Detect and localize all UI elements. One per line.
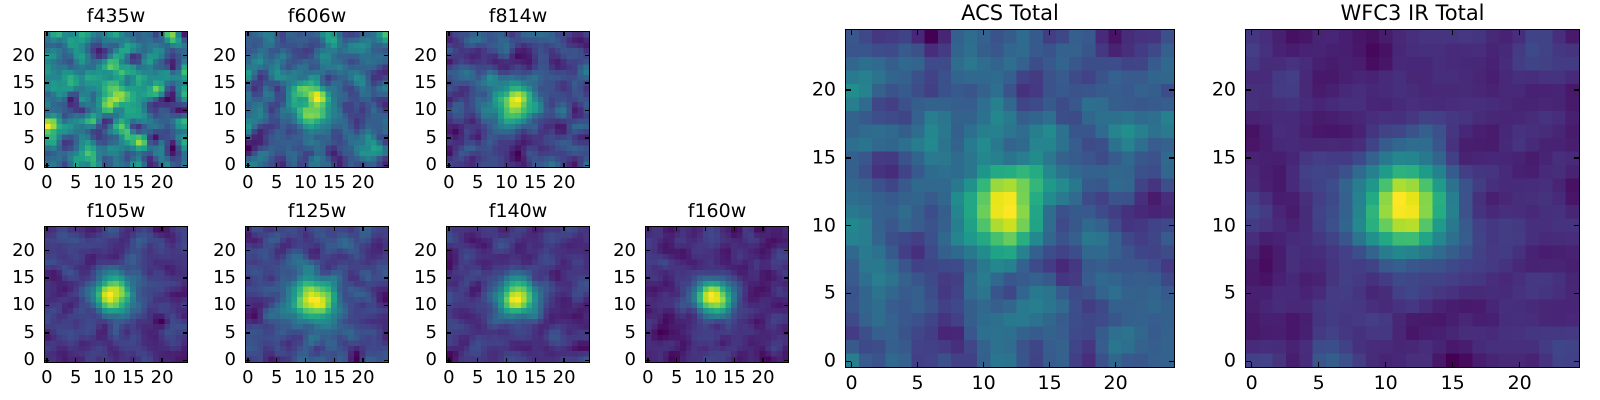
image-axes-f435w	[44, 31, 188, 168]
y-ticklabel-f435w-20: 20	[12, 47, 35, 65]
x-tick-f125w-5	[276, 358, 277, 363]
x-tick-f814w-10	[506, 31, 507, 36]
x-tick-f140w-20	[563, 358, 564, 363]
x-ticklabel-acs_total-15: 15	[1038, 374, 1062, 393]
y-ticklabel-acs_total-15: 15	[812, 148, 836, 167]
y-ticklabel-f140w-0: 0	[426, 351, 437, 369]
x-ticklabel-f105w-0: 0	[41, 369, 52, 387]
y-tick-f606w-0	[384, 165, 389, 166]
panel-title-f140w: f140w	[446, 202, 590, 221]
x-tick-acs_total-20	[1115, 362, 1116, 368]
x-tick-f435w-10	[104, 163, 105, 168]
x-tick-f140w-0	[448, 226, 449, 231]
x-ticklabel-wfc3_ir_total-20: 20	[1508, 374, 1532, 393]
heatmap-image-acs_total	[846, 30, 1174, 367]
x-tick-f125w-5	[276, 226, 277, 231]
x-tick-f125w-0	[247, 358, 248, 363]
panel-f125w: f125w0510152005101520	[0, 0, 1600, 400]
y-tick-acs_total-20	[1169, 89, 1175, 90]
x-tick-f606w-5	[276, 163, 277, 168]
image-axes-f125w	[245, 226, 389, 363]
y-tick-wfc3_ir_total-0	[1574, 361, 1580, 362]
y-tick-f814w-20	[585, 55, 590, 56]
x-tick-wfc3_ir_total-0	[1251, 362, 1252, 368]
x-ticklabel-f435w-10: 10	[93, 174, 116, 192]
x-ticklabel-wfc3_ir_total-15: 15	[1441, 374, 1465, 393]
x-ticklabel-f606w-15: 15	[323, 174, 346, 192]
x-ticklabel-f814w-10: 10	[495, 174, 518, 192]
y-tick-f125w-15	[384, 277, 389, 278]
x-tick-f606w-10	[305, 163, 306, 168]
x-tick-f160w-10	[705, 226, 706, 231]
x-tick-f105w-5	[75, 358, 76, 363]
x-tick-f814w-0	[448, 163, 449, 168]
x-ticklabel-f140w-5: 5	[472, 369, 483, 387]
y-tick-f160w-15	[784, 277, 789, 278]
x-tick-f435w-5	[75, 163, 76, 168]
y-tick-f160w-10	[645, 305, 650, 306]
y-ticklabel-wfc3_ir_total-15: 15	[1212, 148, 1236, 167]
y-tick-f160w-20	[784, 250, 789, 251]
y-tick-f606w-15	[245, 82, 250, 83]
y-tick-f160w-20	[645, 250, 650, 251]
image-axes-wfc3_ir_total	[1245, 29, 1580, 368]
x-tick-f160w-5	[676, 226, 677, 231]
x-tick-f814w-15	[535, 31, 536, 36]
y-tick-f125w-10	[384, 305, 389, 306]
y-tick-f105w-5	[183, 332, 188, 333]
heatmap-image-f125w	[246, 227, 388, 362]
y-tick-f125w-15	[245, 277, 250, 278]
x-tick-f814w-0	[448, 31, 449, 36]
panel-acs_total: ACS Total0510152005101520	[0, 0, 1600, 400]
y-tick-f435w-5	[183, 137, 188, 138]
x-tick-f125w-15	[334, 226, 335, 231]
x-tick-acs_total-0	[851, 29, 852, 35]
x-tick-f105w-0	[46, 226, 47, 231]
x-ticklabel-f125w-5: 5	[271, 369, 282, 387]
y-tick-f814w-0	[585, 165, 590, 166]
y-tick-f140w-20	[585, 250, 590, 251]
y-ticklabel-wfc3_ir_total-0: 0	[1224, 352, 1236, 371]
x-ticklabel-acs_total-5: 5	[912, 374, 924, 393]
x-tick-f105w-10	[104, 226, 105, 231]
y-tick-acs_total-0	[1169, 361, 1175, 362]
x-tick-f160w-10	[705, 358, 706, 363]
y-tick-f140w-5	[446, 332, 451, 333]
x-ticklabel-f140w-20: 20	[553, 369, 576, 387]
x-tick-f160w-20	[762, 226, 763, 231]
y-ticklabel-f105w-20: 20	[12, 242, 35, 260]
panel-f435w: f435w0510152005101520	[0, 0, 1600, 400]
y-tick-f606w-5	[384, 137, 389, 138]
x-ticklabel-f125w-0: 0	[242, 369, 253, 387]
y-ticklabel-f814w-20: 20	[414, 47, 437, 65]
y-tick-wfc3_ir_total-0	[1245, 361, 1251, 362]
heatmap-image-f606w	[246, 32, 388, 167]
y-ticklabel-f606w-0: 0	[225, 156, 236, 174]
y-tick-f435w-15	[44, 82, 49, 83]
y-ticklabel-f814w-10: 10	[414, 101, 437, 119]
x-tick-wfc3_ir_total-10	[1385, 362, 1386, 368]
y-ticklabel-acs_total-0: 0	[824, 352, 836, 371]
y-ticklabel-f435w-0: 0	[24, 156, 35, 174]
x-tick-f814w-15	[535, 163, 536, 168]
y-tick-f140w-10	[585, 305, 590, 306]
y-tick-wfc3_ir_total-10	[1245, 225, 1251, 226]
y-tick-f125w-0	[245, 360, 250, 361]
x-tick-f814w-10	[506, 163, 507, 168]
x-tick-f140w-10	[506, 226, 507, 231]
x-tick-f140w-5	[477, 358, 478, 363]
y-ticklabel-f435w-5: 5	[24, 129, 35, 147]
y-ticklabel-f606w-15: 15	[213, 74, 236, 92]
image-axes-f160w	[645, 226, 789, 363]
x-tick-f105w-10	[104, 358, 105, 363]
y-ticklabel-acs_total-10: 10	[812, 216, 836, 235]
y-ticklabel-f606w-5: 5	[225, 129, 236, 147]
y-tick-f435w-10	[183, 110, 188, 111]
x-ticklabel-f140w-15: 15	[524, 369, 547, 387]
y-tick-f105w-0	[183, 360, 188, 361]
y-tick-f814w-10	[446, 110, 451, 111]
x-tick-f814w-5	[477, 163, 478, 168]
x-tick-acs_total-15	[1049, 362, 1050, 368]
y-tick-f435w-15	[183, 82, 188, 83]
heatmap-image-f814w	[447, 32, 589, 167]
y-tick-f105w-20	[44, 250, 49, 251]
heatmap-image-f435w	[45, 32, 187, 167]
y-tick-f140w-5	[585, 332, 590, 333]
y-tick-wfc3_ir_total-5	[1245, 293, 1251, 294]
y-tick-f814w-5	[585, 137, 590, 138]
y-tick-f125w-5	[245, 332, 250, 333]
x-ticklabel-f435w-5: 5	[70, 174, 81, 192]
y-ticklabel-f125w-15: 15	[213, 269, 236, 287]
x-tick-f435w-15	[133, 163, 134, 168]
panel-wfc3_ir_total: WFC3 IR Total0510152005101520	[0, 0, 1600, 400]
x-ticklabel-f814w-15: 15	[524, 174, 547, 192]
x-ticklabel-acs_total-20: 20	[1104, 374, 1128, 393]
y-ticklabel-f140w-15: 15	[414, 269, 437, 287]
x-tick-f105w-20	[161, 358, 162, 363]
y-tick-f814w-20	[446, 55, 451, 56]
x-ticklabel-f125w-20: 20	[352, 369, 375, 387]
x-ticklabel-f435w-15: 15	[122, 174, 145, 192]
x-tick-f435w-0	[46, 163, 47, 168]
y-tick-wfc3_ir_total-15	[1574, 157, 1580, 158]
x-ticklabel-wfc3_ir_total-5: 5	[1313, 374, 1325, 393]
x-tick-f606w-5	[276, 31, 277, 36]
x-tick-f814w-5	[477, 31, 478, 36]
y-tick-f435w-20	[44, 55, 49, 56]
y-ticklabel-f105w-0: 0	[24, 351, 35, 369]
y-tick-f606w-10	[245, 110, 250, 111]
image-axes-f606w	[245, 31, 389, 168]
y-ticklabel-f125w-0: 0	[225, 351, 236, 369]
heatmap-image-wfc3_ir_total	[1246, 30, 1579, 367]
x-tick-wfc3_ir_total-10	[1385, 29, 1386, 35]
y-tick-f140w-15	[585, 277, 590, 278]
y-ticklabel-f606w-10: 10	[213, 101, 236, 119]
y-ticklabel-f814w-5: 5	[426, 129, 437, 147]
x-tick-wfc3_ir_total-20	[1519, 29, 1520, 35]
x-tick-wfc3_ir_total-0	[1251, 29, 1252, 35]
x-ticklabel-f140w-10: 10	[495, 369, 518, 387]
x-tick-f160w-15	[734, 358, 735, 363]
x-ticklabel-f606w-0: 0	[242, 174, 253, 192]
x-tick-f140w-15	[535, 358, 536, 363]
y-tick-f160w-5	[645, 332, 650, 333]
panel-f814w: f814w0510152005101520	[0, 0, 1600, 400]
x-tick-acs_total-10	[983, 362, 984, 368]
y-tick-f140w-0	[585, 360, 590, 361]
y-tick-wfc3_ir_total-5	[1574, 293, 1580, 294]
y-tick-f125w-20	[245, 250, 250, 251]
x-tick-f435w-20	[161, 31, 162, 36]
x-tick-acs_total-15	[1049, 29, 1050, 35]
y-ticklabel-f140w-10: 10	[414, 296, 437, 314]
x-tick-acs_total-20	[1115, 29, 1116, 35]
y-tick-acs_total-10	[1169, 225, 1175, 226]
x-tick-f435w-20	[161, 163, 162, 168]
y-ticklabel-f125w-10: 10	[213, 296, 236, 314]
x-tick-f606w-0	[247, 163, 248, 168]
y-tick-f105w-10	[44, 305, 49, 306]
x-ticklabel-f105w-15: 15	[122, 369, 145, 387]
y-tick-f606w-15	[384, 82, 389, 83]
x-tick-f140w-20	[563, 226, 564, 231]
panel-title-f125w: f125w	[245, 202, 389, 221]
heatmap-image-f105w	[45, 227, 187, 362]
y-ticklabel-wfc3_ir_total-20: 20	[1212, 81, 1236, 100]
x-tick-f435w-10	[104, 31, 105, 36]
y-ticklabel-f160w-5: 5	[625, 324, 636, 342]
panel-f105w: f105w0510152005101520	[0, 0, 1600, 400]
y-ticklabel-acs_total-5: 5	[824, 284, 836, 303]
y-tick-f140w-10	[446, 305, 451, 306]
y-ticklabel-f435w-10: 10	[12, 101, 35, 119]
x-ticklabel-f160w-5: 5	[671, 369, 682, 387]
y-ticklabel-f160w-20: 20	[613, 242, 636, 260]
y-ticklabel-f105w-10: 10	[12, 296, 35, 314]
y-tick-acs_total-15	[1169, 157, 1175, 158]
x-ticklabel-f105w-20: 20	[151, 369, 174, 387]
x-tick-f140w-0	[448, 358, 449, 363]
x-tick-acs_total-5	[917, 362, 918, 368]
y-tick-f606w-0	[245, 165, 250, 166]
y-ticklabel-f814w-0: 0	[426, 156, 437, 174]
y-tick-f435w-10	[44, 110, 49, 111]
x-tick-f125w-20	[362, 358, 363, 363]
y-ticklabel-f606w-20: 20	[213, 47, 236, 65]
y-tick-f435w-0	[183, 165, 188, 166]
x-ticklabel-wfc3_ir_total-0: 0	[1246, 374, 1258, 393]
x-ticklabel-f435w-0: 0	[41, 174, 52, 192]
x-tick-f125w-10	[305, 226, 306, 231]
y-tick-f160w-15	[645, 277, 650, 278]
panel-title-f606w: f606w	[245, 7, 389, 26]
y-tick-acs_total-0	[845, 361, 851, 362]
x-tick-f125w-15	[334, 358, 335, 363]
x-ticklabel-f814w-20: 20	[553, 174, 576, 192]
y-tick-f435w-5	[44, 137, 49, 138]
y-ticklabel-f105w-5: 5	[24, 324, 35, 342]
panel-title-f814w: f814w	[446, 7, 590, 26]
y-tick-f814w-15	[446, 82, 451, 83]
x-tick-f160w-5	[676, 358, 677, 363]
x-tick-f606w-15	[334, 31, 335, 36]
y-tick-f814w-10	[585, 110, 590, 111]
x-tick-acs_total-10	[983, 29, 984, 35]
y-ticklabel-wfc3_ir_total-10: 10	[1212, 216, 1236, 235]
x-tick-acs_total-0	[851, 362, 852, 368]
y-tick-f606w-20	[384, 55, 389, 56]
x-ticklabel-f160w-15: 15	[723, 369, 746, 387]
y-tick-wfc3_ir_total-15	[1245, 157, 1251, 158]
y-tick-f606w-20	[245, 55, 250, 56]
x-ticklabel-f435w-20: 20	[151, 174, 174, 192]
y-tick-f105w-10	[183, 305, 188, 306]
y-ticklabel-f160w-15: 15	[613, 269, 636, 287]
x-ticklabel-acs_total-10: 10	[972, 374, 996, 393]
y-tick-f105w-20	[183, 250, 188, 251]
x-tick-f606w-0	[247, 31, 248, 36]
x-ticklabel-f160w-0: 0	[642, 369, 653, 387]
heatmap-image-f160w	[646, 227, 788, 362]
y-tick-acs_total-5	[1169, 293, 1175, 294]
y-tick-f814w-5	[446, 137, 451, 138]
y-tick-f125w-20	[384, 250, 389, 251]
panel-f606w: f606w0510152005101520	[0, 0, 1600, 400]
x-ticklabel-f160w-20: 20	[752, 369, 775, 387]
y-ticklabel-f160w-10: 10	[613, 296, 636, 314]
x-tick-f125w-0	[247, 226, 248, 231]
x-tick-f125w-10	[305, 358, 306, 363]
y-ticklabel-f435w-15: 15	[12, 74, 35, 92]
y-tick-f160w-0	[645, 360, 650, 361]
y-tick-f125w-10	[245, 305, 250, 306]
x-ticklabel-f606w-20: 20	[352, 174, 375, 192]
panel-title-f160w: f160w	[645, 202, 789, 221]
y-tick-f435w-0	[44, 165, 49, 166]
x-tick-f140w-10	[506, 358, 507, 363]
x-ticklabel-f160w-10: 10	[694, 369, 717, 387]
y-tick-acs_total-20	[845, 89, 851, 90]
panel-f140w: f140w0510152005101520	[0, 0, 1600, 400]
x-tick-wfc3_ir_total-15	[1452, 362, 1453, 368]
x-ticklabel-acs_total-0: 0	[846, 374, 858, 393]
x-ticklabel-f606w-5: 5	[271, 174, 282, 192]
y-tick-f140w-0	[446, 360, 451, 361]
x-tick-f160w-0	[647, 226, 648, 231]
y-tick-f105w-15	[183, 277, 188, 278]
y-tick-f105w-0	[44, 360, 49, 361]
image-axes-f814w	[446, 31, 590, 168]
y-ticklabel-f814w-15: 15	[414, 74, 437, 92]
x-tick-f606w-10	[305, 31, 306, 36]
y-tick-wfc3_ir_total-20	[1245, 89, 1251, 90]
x-tick-wfc3_ir_total-5	[1318, 29, 1319, 35]
x-tick-f606w-20	[362, 163, 363, 168]
x-tick-f814w-20	[563, 31, 564, 36]
y-ticklabel-f140w-20: 20	[414, 242, 437, 260]
x-tick-f105w-15	[133, 358, 134, 363]
x-tick-f606w-15	[334, 163, 335, 168]
y-ticklabel-f140w-5: 5	[426, 324, 437, 342]
y-tick-f140w-20	[446, 250, 451, 251]
x-tick-f160w-15	[734, 226, 735, 231]
y-tick-f140w-15	[446, 277, 451, 278]
panel-title-f105w: f105w	[44, 202, 188, 221]
x-tick-f435w-5	[75, 31, 76, 36]
y-tick-f160w-0	[784, 360, 789, 361]
x-ticklabel-f606w-10: 10	[294, 174, 317, 192]
figure-canvas: f435w0510152005101520f606w05101520051015…	[0, 0, 1600, 400]
x-tick-f105w-15	[133, 226, 134, 231]
y-ticklabel-acs_total-20: 20	[812, 81, 836, 100]
panel-f160w: f160w0510152005101520	[0, 0, 1600, 400]
y-tick-f606w-10	[384, 110, 389, 111]
y-tick-wfc3_ir_total-20	[1574, 89, 1580, 90]
x-tick-acs_total-5	[917, 29, 918, 35]
y-tick-acs_total-15	[845, 157, 851, 158]
x-tick-f606w-20	[362, 31, 363, 36]
x-ticklabel-f125w-15: 15	[323, 369, 346, 387]
x-ticklabel-f125w-10: 10	[294, 369, 317, 387]
image-axes-f140w	[446, 226, 590, 363]
x-tick-f105w-5	[75, 226, 76, 231]
y-tick-f125w-0	[384, 360, 389, 361]
x-ticklabel-f814w-5: 5	[472, 174, 483, 192]
y-tick-acs_total-10	[845, 225, 851, 226]
x-tick-f160w-20	[762, 358, 763, 363]
panel-title-f435w: f435w	[44, 7, 188, 26]
x-ticklabel-f105w-5: 5	[70, 369, 81, 387]
y-tick-f105w-15	[44, 277, 49, 278]
y-tick-acs_total-5	[845, 293, 851, 294]
y-tick-f814w-15	[585, 82, 590, 83]
x-ticklabel-f814w-0: 0	[443, 174, 454, 192]
x-tick-f160w-0	[647, 358, 648, 363]
heatmap-image-f140w	[447, 227, 589, 362]
y-tick-f814w-0	[446, 165, 451, 166]
y-tick-f435w-20	[183, 55, 188, 56]
panel-title-acs_total: ACS Total	[845, 3, 1175, 24]
y-tick-f606w-5	[245, 137, 250, 138]
x-tick-f105w-0	[46, 358, 47, 363]
y-ticklabel-f105w-15: 15	[12, 269, 35, 287]
x-ticklabel-wfc3_ir_total-10: 10	[1374, 374, 1398, 393]
y-tick-wfc3_ir_total-10	[1574, 225, 1580, 226]
x-tick-f435w-15	[133, 31, 134, 36]
image-axes-f105w	[44, 226, 188, 363]
y-tick-f160w-10	[784, 305, 789, 306]
panel-title-wfc3_ir_total: WFC3 IR Total	[1245, 3, 1580, 24]
x-tick-wfc3_ir_total-15	[1452, 29, 1453, 35]
y-tick-f105w-5	[44, 332, 49, 333]
y-tick-f160w-5	[784, 332, 789, 333]
y-ticklabel-f125w-20: 20	[213, 242, 236, 260]
x-tick-f435w-0	[46, 31, 47, 36]
x-tick-f140w-15	[535, 226, 536, 231]
x-ticklabel-f140w-0: 0	[443, 369, 454, 387]
x-tick-wfc3_ir_total-5	[1318, 362, 1319, 368]
y-tick-f125w-5	[384, 332, 389, 333]
x-tick-f140w-5	[477, 226, 478, 231]
x-tick-wfc3_ir_total-20	[1519, 362, 1520, 368]
y-ticklabel-f160w-0: 0	[625, 351, 636, 369]
